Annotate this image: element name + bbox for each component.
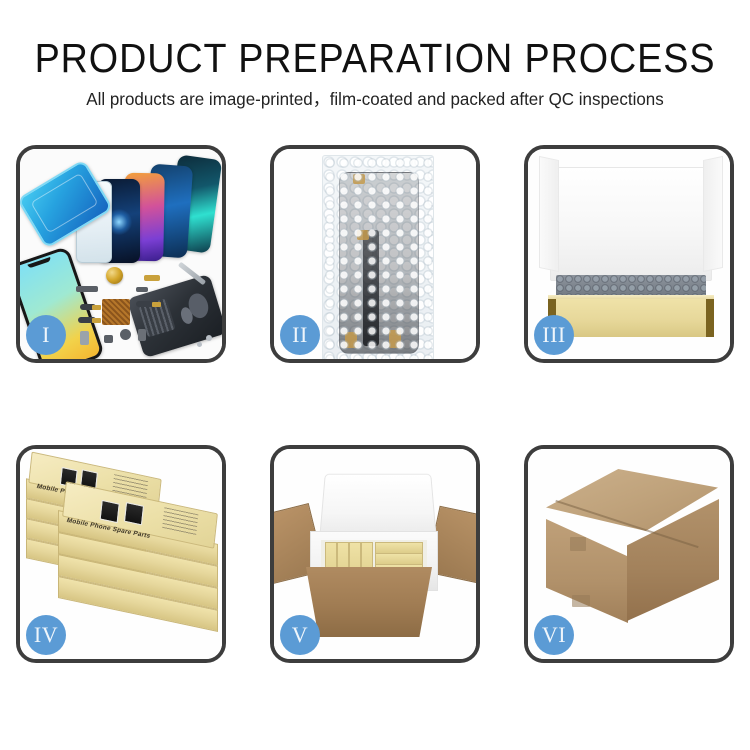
connector-grid-icon	[102, 299, 130, 325]
process-step-2[interactable]: II	[270, 145, 480, 363]
wrapped-flex-strip-icon	[363, 230, 379, 346]
connector-tab-icon	[345, 332, 357, 348]
flex-cable-icon	[136, 301, 156, 307]
screw-icon	[197, 342, 202, 347]
carton-tape-icon	[572, 595, 590, 607]
foam-sheet-icon	[550, 167, 712, 281]
connector-tab-icon	[389, 330, 401, 348]
step-badge: V	[280, 615, 320, 655]
process-step-5[interactable]: V	[270, 445, 480, 663]
box-text-lines	[162, 507, 198, 536]
process-step-1[interactable]: I	[16, 145, 226, 363]
speaker-module-icon	[106, 267, 123, 284]
vibrator-icon	[104, 335, 113, 343]
wrapped-part-icon	[339, 172, 419, 354]
step-badge: III	[534, 315, 574, 355]
connector-tab-icon	[357, 230, 369, 240]
step-badge: VI	[534, 615, 574, 655]
gold-contact-icon	[144, 275, 160, 281]
page-title: PRODUCT PREPARATION PROCESS	[30, 36, 720, 80]
process-step-6[interactable]: VI	[524, 445, 734, 663]
flex-cable-icon	[80, 304, 96, 310]
carton-tape-icon	[570, 537, 586, 551]
step-badge: II	[280, 315, 320, 355]
carton-body-icon	[306, 567, 432, 637]
header: PRODUCT PREPARATION PROCESS All products…	[0, 36, 750, 110]
phone-print-icon	[100, 500, 120, 523]
connector-tab-icon	[353, 174, 365, 184]
product-preparation-infographic: PRODUCT PREPARATION PROCESS All products…	[0, 0, 750, 750]
step-badge: I	[26, 315, 66, 355]
flex-cable-icon	[78, 317, 96, 323]
part-chip-icon	[136, 287, 148, 292]
process-step-3[interactable]: III	[524, 145, 734, 363]
process-step-4[interactable]: Mobile Phone Spare Parts Mobile Phone Sp…	[16, 445, 226, 663]
step-badge: IV	[26, 615, 66, 655]
sim-tray-icon	[80, 331, 89, 345]
screw-icon	[206, 335, 212, 341]
part-strip-icon	[76, 286, 98, 292]
camera-module-icon	[120, 329, 131, 340]
page-subtitle: All products are image-printed，film-coat…	[11, 88, 739, 110]
process-step-grid: I II	[16, 145, 734, 673]
phone-print-icon	[124, 502, 144, 525]
button-part-icon	[138, 329, 146, 341]
bubble-wrap-bag-icon	[322, 155, 434, 359]
